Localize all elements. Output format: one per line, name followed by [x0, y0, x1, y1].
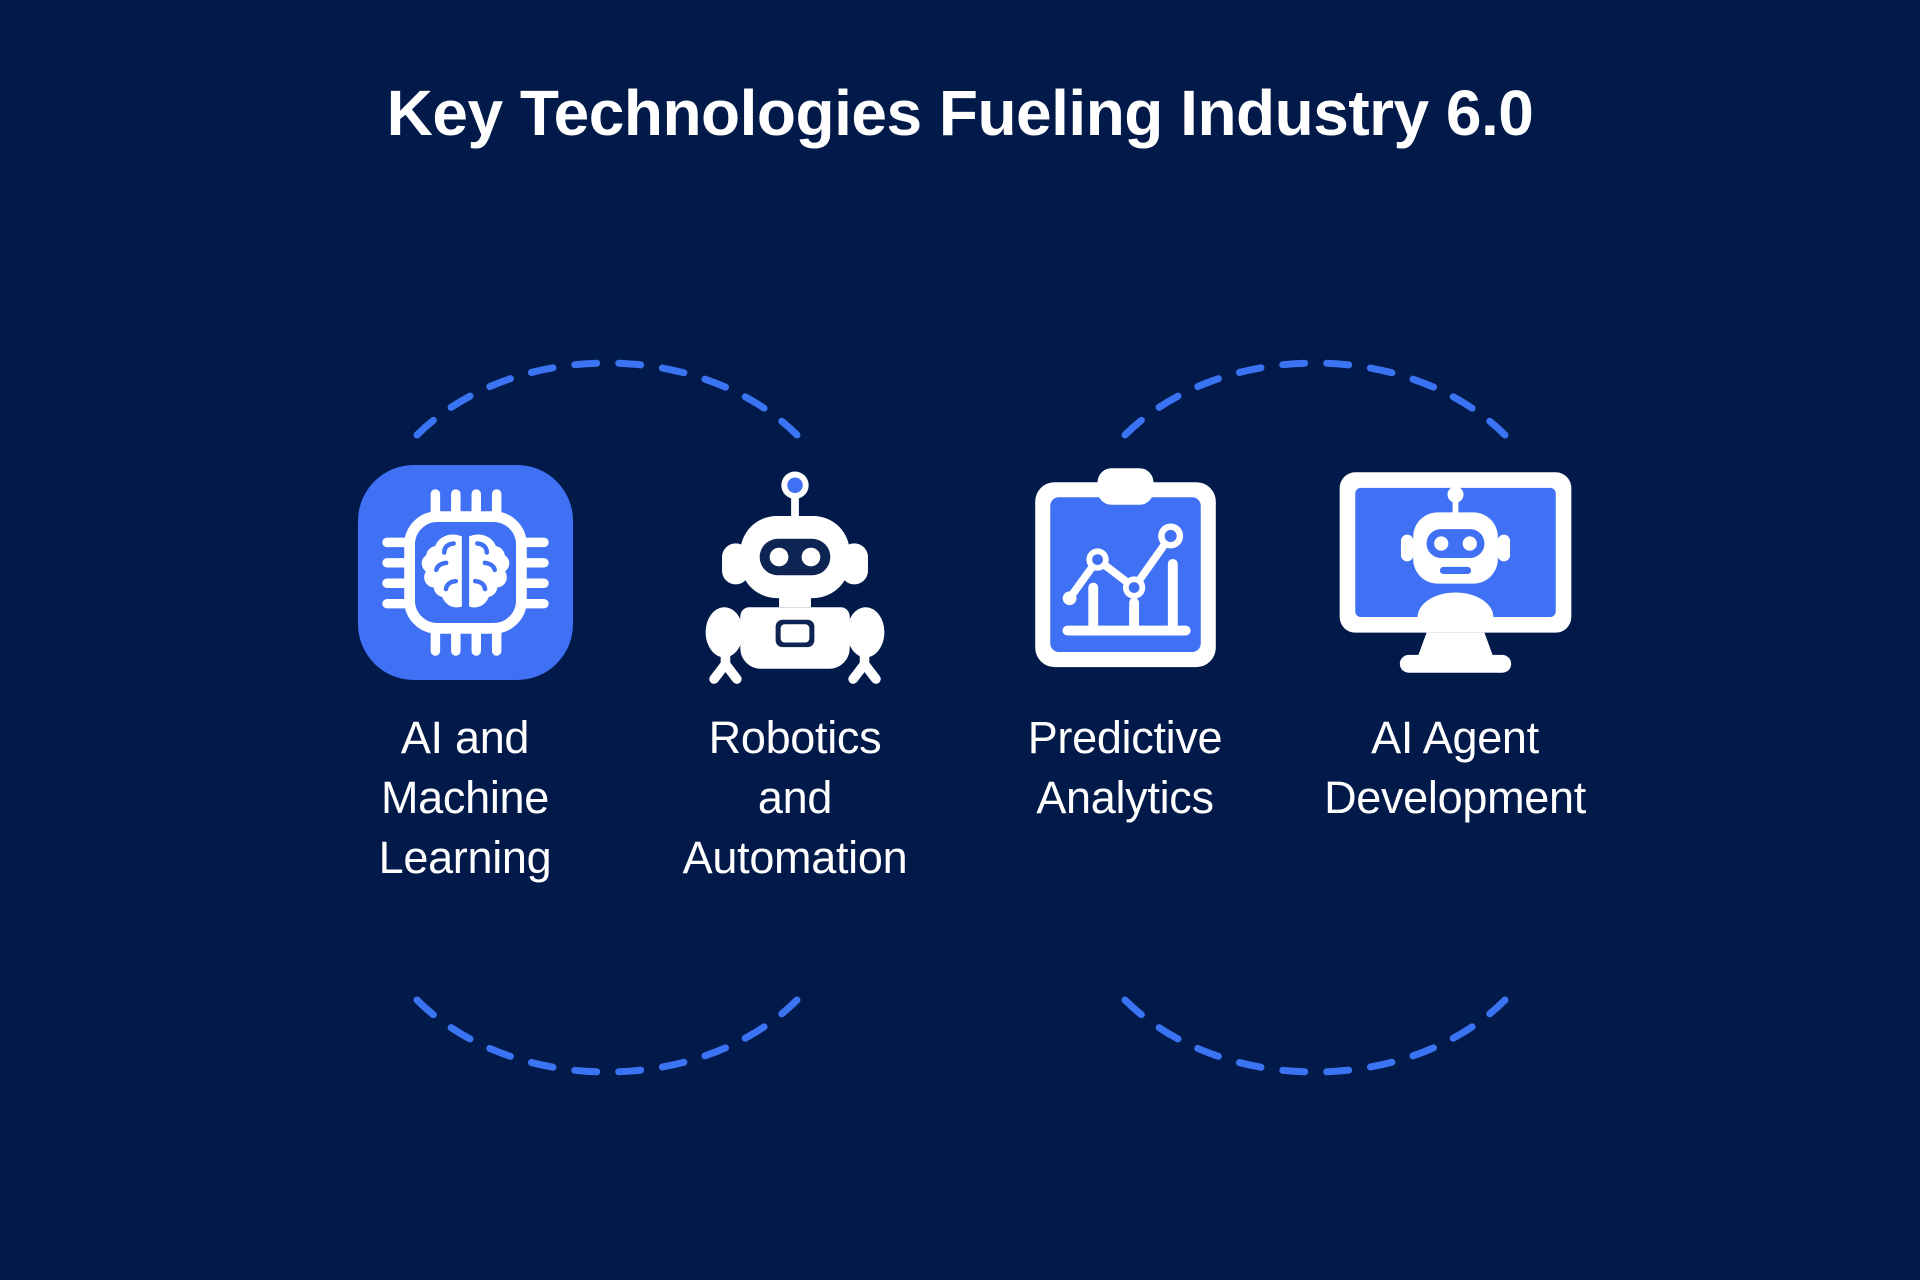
technology-item-predictive-analytics[interactable]: Predictive Analytics — [960, 455, 1290, 828]
dashed-ellipse-left-top — [417, 363, 797, 435]
technology-item-ai-machine-learning[interactable]: AI and Machine Learning — [300, 455, 630, 888]
technology-label: AI and Machine Learning — [379, 708, 552, 888]
dashed-ellipse-right-bottom — [1125, 1000, 1505, 1072]
technology-label: Predictive Analytics — [1028, 708, 1223, 828]
technology-columns: AI and Machine Learning — [0, 455, 1920, 888]
monitor-robot-icon — [1333, 455, 1578, 690]
page-title: Key Technologies Fueling Industry 6.0 — [0, 78, 1920, 148]
robot-icon — [681, 455, 909, 690]
technology-item-ai-agent-development[interactable]: AI Agent Development — [1290, 455, 1620, 828]
clipboard-chart-icon — [1023, 455, 1228, 690]
technology-label: Robotics and Automation — [683, 708, 908, 888]
dashed-ellipse-right-top — [1125, 363, 1505, 435]
technology-item-robotics-automation[interactable]: Robotics and Automation — [630, 455, 960, 888]
technology-label: AI Agent Development — [1324, 708, 1586, 828]
infographic-canvas: Key Technologies Fueling Industry 6.0 — [0, 0, 1920, 1280]
dashed-ellipse-left-bottom — [417, 1000, 797, 1072]
ai-chip-brain-icon — [358, 455, 573, 690]
